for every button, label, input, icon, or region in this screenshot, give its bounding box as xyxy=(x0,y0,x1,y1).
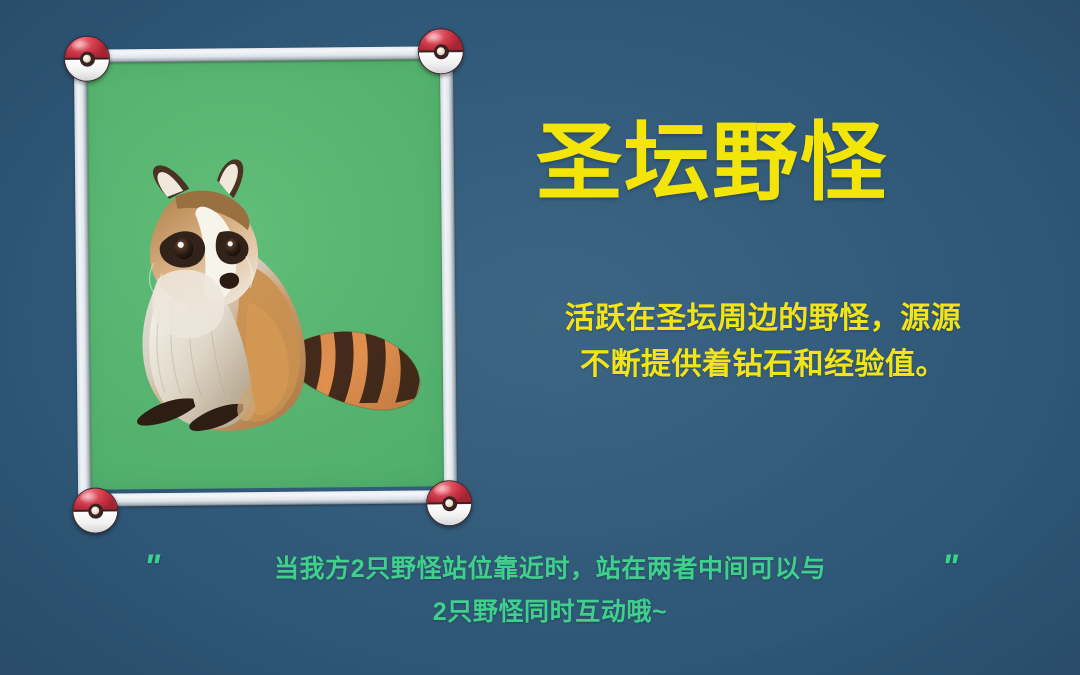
pokeball-icon-top-right xyxy=(418,28,464,74)
pokeball-icon-bottom-right xyxy=(426,480,472,526)
tip-caption-line-2: 2只野怪同时互动哦~ xyxy=(120,591,980,634)
description-text: 活跃在圣坛周边的野怪，源源 不断提供着钻石和经验值。 xyxy=(520,296,1006,387)
raccoon-creature-illustration xyxy=(91,150,434,443)
poster-root: 圣坛野怪 活跃在圣坛周边的野怪，源源 不断提供着钻石和经验值。 " " 当我方2… xyxy=(0,0,1080,675)
tip-caption-line-1: 当我方2只野怪站位靠近时，站在两者中间可以与 xyxy=(120,548,980,591)
quote-open-icon: " xyxy=(144,550,158,584)
artwork-panel xyxy=(38,18,490,530)
description-line-2: 不断提供着钻石和经验值。 xyxy=(580,348,946,381)
description-line-1: 活跃在圣坛周边的野怪，源源 xyxy=(565,302,962,335)
pokeball-icon-top-left xyxy=(64,35,110,81)
tip-caption: " " 当我方2只野怪站位靠近时，站在两者中间可以与 2只野怪同时互动哦~ xyxy=(120,548,980,634)
pokeball-icon-bottom-left xyxy=(72,487,118,533)
green-board xyxy=(82,58,446,489)
framed-board xyxy=(36,16,493,532)
frame-bar-bottom xyxy=(90,490,446,506)
page-title: 圣坛野怪 xyxy=(536,118,1006,209)
quote-close-icon: " xyxy=(942,550,956,584)
